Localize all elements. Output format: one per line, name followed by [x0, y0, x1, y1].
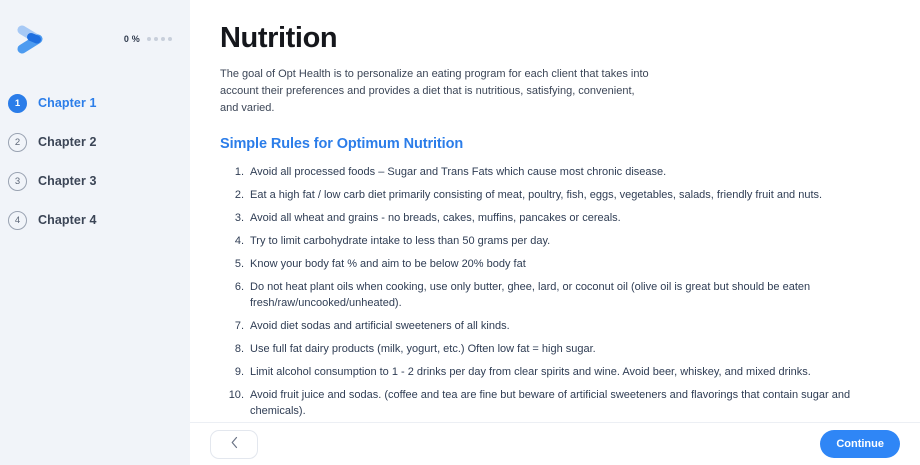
rule-item: Use full fat dairy products (milk, yogur…: [220, 341, 880, 357]
lesson-content: Nutrition The goal of Opt Health is to p…: [190, 0, 920, 422]
main-content-area: Nutrition The goal of Opt Health is to p…: [190, 0, 920, 465]
chapter-number-badge: 2: [8, 133, 27, 152]
sidebar: 0 % 1 Chapter 1 2 Chapter 2 3 Chapter: [0, 0, 190, 465]
rule-item: Eat a high fat / low carb diet primarily…: [220, 187, 880, 203]
intro-paragraph: The goal of Opt Health is to personalize…: [220, 66, 650, 117]
chevron-logo-icon[interactable]: [12, 19, 52, 59]
sidebar-item-chapter-4[interactable]: 4 Chapter 4: [0, 201, 190, 239]
progress-percent-label: 0 %: [124, 34, 140, 44]
rule-item: Try to limit carbohydrate intake to less…: [220, 233, 880, 249]
progress-dot: [154, 37, 158, 41]
sidebar-item-chapter-2[interactable]: 2 Chapter 2: [0, 123, 190, 161]
chapter-number-badge: 3: [8, 172, 27, 191]
sidebar-item-label: Chapter 4: [38, 213, 97, 227]
rule-item: Avoid all wheat and grains - no breads, …: [220, 210, 880, 226]
sidebar-item-chapter-3[interactable]: 3 Chapter 3: [0, 162, 190, 200]
rule-item: Know your body fat % and aim to be below…: [220, 256, 880, 272]
rule-item: Limit alcohol consumption to 1 - 2 drink…: [220, 364, 880, 380]
progress-dot: [147, 37, 151, 41]
back-button[interactable]: [210, 430, 258, 459]
chapter-number-badge: 1: [8, 94, 27, 113]
progress-dot: [161, 37, 165, 41]
sidebar-item-chapter-1[interactable]: 1 Chapter 1: [0, 84, 190, 122]
rule-item: Avoid fruit juice and sodas. (coffee and…: [220, 387, 880, 419]
chapter-nav: 1 Chapter 1 2 Chapter 2 3 Chapter 3 4 Ch…: [0, 78, 190, 239]
footer-nav-bar: Continue: [190, 422, 920, 465]
section-heading: Simple Rules for Optimum Nutrition: [220, 136, 880, 152]
progress-dots: [147, 37, 172, 41]
sidebar-header: 0 %: [0, 0, 190, 78]
progress-indicator: 0 %: [124, 34, 176, 44]
sidebar-item-label: Chapter 1: [38, 96, 97, 110]
page-title: Nutrition: [220, 22, 880, 55]
nutrition-course-page: 0 % 1 Chapter 1 2 Chapter 2 3 Chapter: [0, 0, 920, 465]
sidebar-item-label: Chapter 2: [38, 135, 97, 149]
chapter-number-badge: 4: [8, 211, 27, 230]
continue-button[interactable]: Continue: [820, 430, 900, 458]
sidebar-item-label: Chapter 3: [38, 174, 97, 188]
chevron-left-icon: [230, 436, 239, 452]
rule-item: Avoid all processed foods – Sugar and Tr…: [220, 164, 880, 180]
progress-dot: [168, 37, 172, 41]
rules-list: Avoid all processed foods – Sugar and Tr…: [220, 164, 880, 419]
rule-item: Avoid diet sodas and artificial sweetene…: [220, 318, 880, 334]
rule-item: Do not heat plant oils when cooking, use…: [220, 279, 880, 311]
